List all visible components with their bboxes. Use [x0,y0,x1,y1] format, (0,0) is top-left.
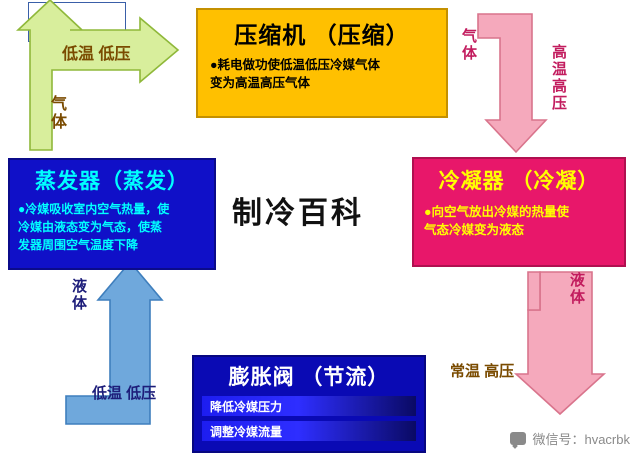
compressor-title: 压缩机 （压缩） [198,10,446,50]
evaporator-body-line2: 冷媒由液态变为气态，使蒸 [18,218,208,236]
node-expansion-valve: 膨胀阀 （节流） 降低冷媒压力 调整冷媒流量 [192,355,426,453]
condenser-body: ●向空气放出冷媒的热量使 气态冷媒变为液态 [414,195,624,239]
condenser-body-line2: 气态冷媒变为液态 [424,221,616,239]
compressor-body-line1: ●耗电做功使低温低压冷媒气体 [210,56,436,74]
label-gas-left: 气体 [44,95,68,131]
condenser-title: 冷凝器 （冷凝） [414,159,624,195]
node-evaporator: 蒸发器（蒸发） ●冷媒吸收室内空气热量，使 冷媒由液态变为气态，使蒸 发器周围空… [8,158,216,270]
expansion-valve-bar-1: 降低冷媒压力 [202,396,416,416]
label-high-temp-high-press: 高温高压 [548,44,569,112]
node-compressor: 压缩机 （压缩） ●耗电做功使低温低压冷媒气体 变为高温高压气体 [196,8,448,118]
label-gas-top-right: 气体 [458,28,479,62]
compressor-body-line2: 变为高温高压气体 [210,74,436,92]
expansion-valve-title: 膨胀阀 （节流） [194,357,424,391]
arrow-evaporator-to-compressor [18,0,178,150]
wechat-icon [510,432,526,445]
arrow-compressor-to-condenser [478,14,546,152]
label-low-temp-low-press-top: 低温 低压 [62,40,130,64]
condenser-body-line1: ●向空气放出冷媒的热量使 [424,203,616,221]
node-condenser: 冷凝器 （冷凝） ●向空气放出冷媒的热量使 气态冷媒变为液态 [412,157,626,267]
expansion-valve-bar-2: 调整冷媒流量 [202,421,416,441]
arrow-condenser-to-expvalve-tail [528,272,540,310]
evaporator-body: ●冷媒吸收室内空气热量，使 冷媒由液态变为气态，使蒸 发器周围空气温度下降 [10,195,214,254]
evaporator-title: 蒸发器（蒸发） [10,160,214,195]
evaporator-body-line1: ●冷媒吸收室内空气热量，使 [18,200,208,218]
label-liquid-left: 液体 [68,278,89,312]
diagram-canvas: 压缩机 （压缩） ●耗电做功使低温低压冷媒气体 变为高温高压气体 冷凝器 （冷凝… [0,0,640,454]
watermark-text: 微信号：hvacrbk [532,429,630,448]
label-liquid-right: 液体 [566,272,587,306]
label-normal-temp-high-press: 常温 高压 [450,360,514,381]
label-low-temp-low-press-bottom: 低温 低压 [92,382,156,403]
center-title: 制冷百科 [232,188,364,232]
compressor-body: ●耗电做功使低温低压冷媒气体 变为高温高压气体 [198,50,446,92]
watermark: 微信号：hvacrbk [510,429,630,448]
evaporator-body-line3: 发器周围空气温度下降 [18,236,208,254]
